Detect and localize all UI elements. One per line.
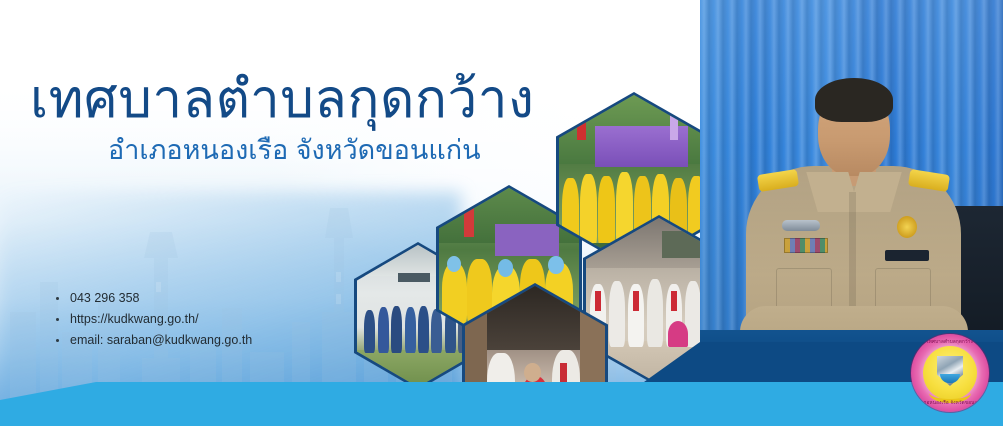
contact-list: 043 296 358 https://kudkwang.go.th/ emai… <box>55 288 252 351</box>
contact-website-text[interactable]: https://kudkwang.go.th/ <box>70 312 199 326</box>
ribbon-bar <box>784 238 828 253</box>
contact-phone-text: 043 296 358 <box>70 291 140 305</box>
contact-item-email[interactable]: email: saraban@kudkwang.go.th <box>55 330 252 351</box>
seal-text-top: เทศบาลตำบลกุดกว้าง <box>911 339 989 346</box>
contact-item-website[interactable]: https://kudkwang.go.th/ <box>55 309 252 330</box>
site-header-banner: เทศบาลตำบลกุดกว้าง อำเภอหนองเรือ จังหวัด… <box>0 0 1003 426</box>
municipality-seal-icon[interactable]: เทศบาลตำบลกุดกว้าง อำเภอหนองเรือ จังหวัด… <box>911 334 989 412</box>
bottom-cyan-bar <box>0 382 1003 426</box>
name-plate <box>885 250 929 261</box>
contact-item-phone: 043 296 358 <box>55 288 252 309</box>
hair <box>815 78 893 122</box>
seal-text-bottom: อำเภอหนองเรือ จังหวัดขอนแก่น <box>911 400 989 407</box>
contact-email-text[interactable]: email: saraban@kudkwang.go.th <box>70 333 252 347</box>
official-portrait <box>746 72 961 362</box>
wing-insignia <box>782 220 820 231</box>
photo-collage <box>340 55 730 415</box>
gold-badge-icon <box>897 216 917 238</box>
